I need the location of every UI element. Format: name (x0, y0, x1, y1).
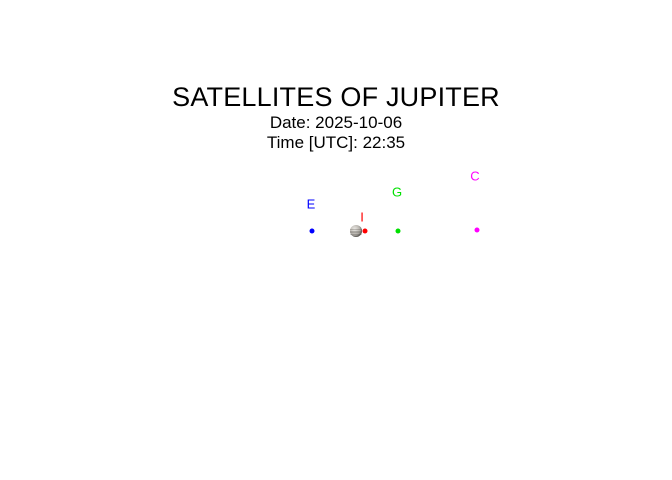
moon-dot-c (475, 228, 480, 233)
moon-dot-g (396, 229, 401, 234)
satellite-field: EIGC (0, 0, 672, 480)
jupiter-cloud-band (350, 229, 362, 230)
moon-label-g: G (392, 186, 402, 199)
jupiter-cloud-band (350, 234, 362, 235)
satellites-of-jupiter-view: SATELLITES OF JUPITER Date: 2025-10-06 T… (0, 0, 672, 480)
moon-label-i: I (360, 211, 364, 224)
moon-label-e: E (307, 198, 316, 211)
jupiter-disk (350, 225, 362, 237)
moon-dot-e (310, 229, 315, 234)
moon-label-c: C (470, 170, 479, 183)
jupiter-cloud-band (350, 231, 362, 233)
moon-dot-i (363, 229, 368, 234)
